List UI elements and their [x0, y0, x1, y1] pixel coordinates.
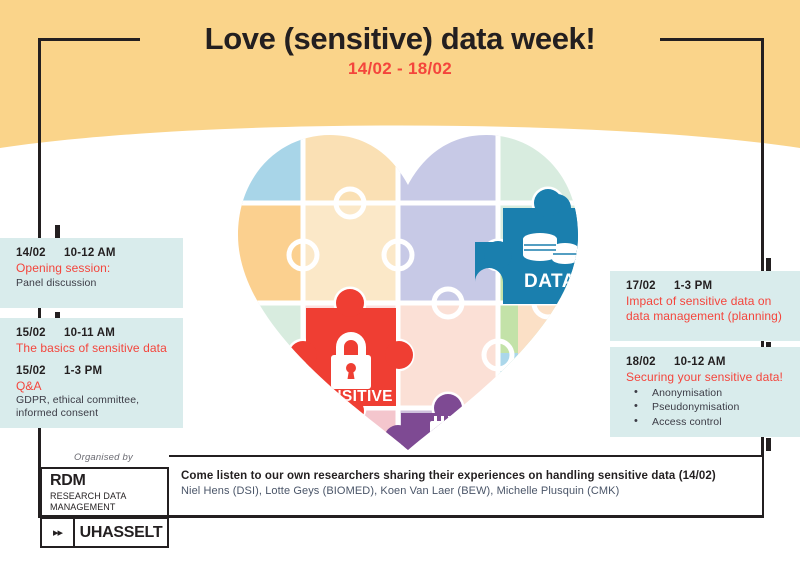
- piece-label-data: DATA: [524, 271, 576, 292]
- spacer: [16, 356, 171, 365]
- rdm-acronym: RDM: [50, 473, 167, 489]
- card-tick-right-1: [766, 258, 771, 271]
- rdm-line-1: RESEARCH DATA: [50, 491, 167, 502]
- double-arrow-icon: ▸▸: [42, 519, 75, 546]
- event-headline: Impact of sensitive data on data managem…: [626, 294, 788, 323]
- event-meta: 14/02 10-12 AM: [16, 247, 171, 259]
- credit-panel: Come listen to our own researchers shari…: [169, 455, 764, 517]
- event-bullet-list: Anonymisation Pseudonymisation Access co…: [626, 386, 788, 429]
- piece-label-sensitive: SENSITIVE: [309, 388, 393, 405]
- list-item: Pseudonymisation: [626, 400, 788, 414]
- card-tick-left-1: [55, 225, 60, 238]
- list-item: Access control: [626, 415, 788, 429]
- rdm-line-2: MANAGEMENT: [50, 502, 167, 513]
- event-card-left-2[interactable]: 15/02 10-11 AM The basics of sensitive d…: [0, 318, 183, 428]
- event-time: 1-3 PM: [64, 365, 102, 377]
- event-meta: 17/02 1-3 PM: [626, 280, 788, 292]
- event-meta: 18/02 10-12 AM: [626, 356, 788, 368]
- card-tick-right-3: [766, 438, 771, 451]
- event-meta: 15/02 10-11 AM: [16, 327, 171, 339]
- event-meta-secondary: 15/02 1-3 PM: [16, 365, 171, 377]
- poster-canvas: Love (sensitive) data week! 14/02 - 18/0…: [0, 0, 800, 564]
- event-headline: The basics of sensitive data: [16, 341, 171, 356]
- event-headline-secondary: Q&A: [16, 379, 171, 394]
- event-time: 10-12 AM: [64, 247, 116, 259]
- rdm-logo: RDM RESEARCH DATA MANAGEMENT: [40, 467, 169, 517]
- event-card-left-1[interactable]: 14/02 10-12 AM Opening session: Panel di…: [0, 238, 183, 308]
- event-detail-secondary: GDPR, ethical committee, informed consen…: [16, 394, 171, 420]
- event-date: 18/02: [626, 356, 674, 368]
- event-headline: Securing your sensitive data!: [626, 370, 788, 385]
- uhasselt-logo: ▸▸ UHASSELT: [40, 517, 169, 548]
- event-date: 15/02: [16, 365, 64, 377]
- event-time: 10-11 AM: [64, 327, 115, 339]
- event-time: 10-12 AM: [674, 356, 726, 368]
- credit-speakers: Niel Hens (DSI), Lotte Geys (BIOMED), Ko…: [181, 485, 762, 497]
- uhasselt-wordmark: UHASSELT: [75, 524, 167, 542]
- event-headline: Opening session:: [16, 261, 171, 276]
- calendar-icon: [430, 416, 466, 453]
- event-time: 1-3 PM: [674, 280, 712, 292]
- puzzle-heart-graphic: DATA SENSITIVE: [218, 105, 598, 455]
- list-item: Anonymisation: [626, 386, 788, 400]
- event-date: 14/02: [16, 247, 64, 259]
- organised-by-label: Organised by: [74, 452, 133, 463]
- poster-header: Love (sensitive) data week! 14/02 - 18/0…: [0, 22, 800, 79]
- date-range: 14/02 - 18/02: [0, 59, 800, 79]
- event-date: 15/02: [16, 327, 64, 339]
- event-detail: Panel discussion: [16, 277, 171, 290]
- credit-headline: Come listen to our own researchers shari…: [181, 470, 762, 482]
- event-date: 17/02: [626, 280, 674, 292]
- event-card-right-2[interactable]: 18/02 10-12 AM Securing your sensitive d…: [610, 347, 800, 437]
- page-title: Love (sensitive) data week!: [0, 22, 800, 56]
- event-card-right-1[interactable]: 17/02 1-3 PM Impact of sensitive data on…: [610, 271, 800, 341]
